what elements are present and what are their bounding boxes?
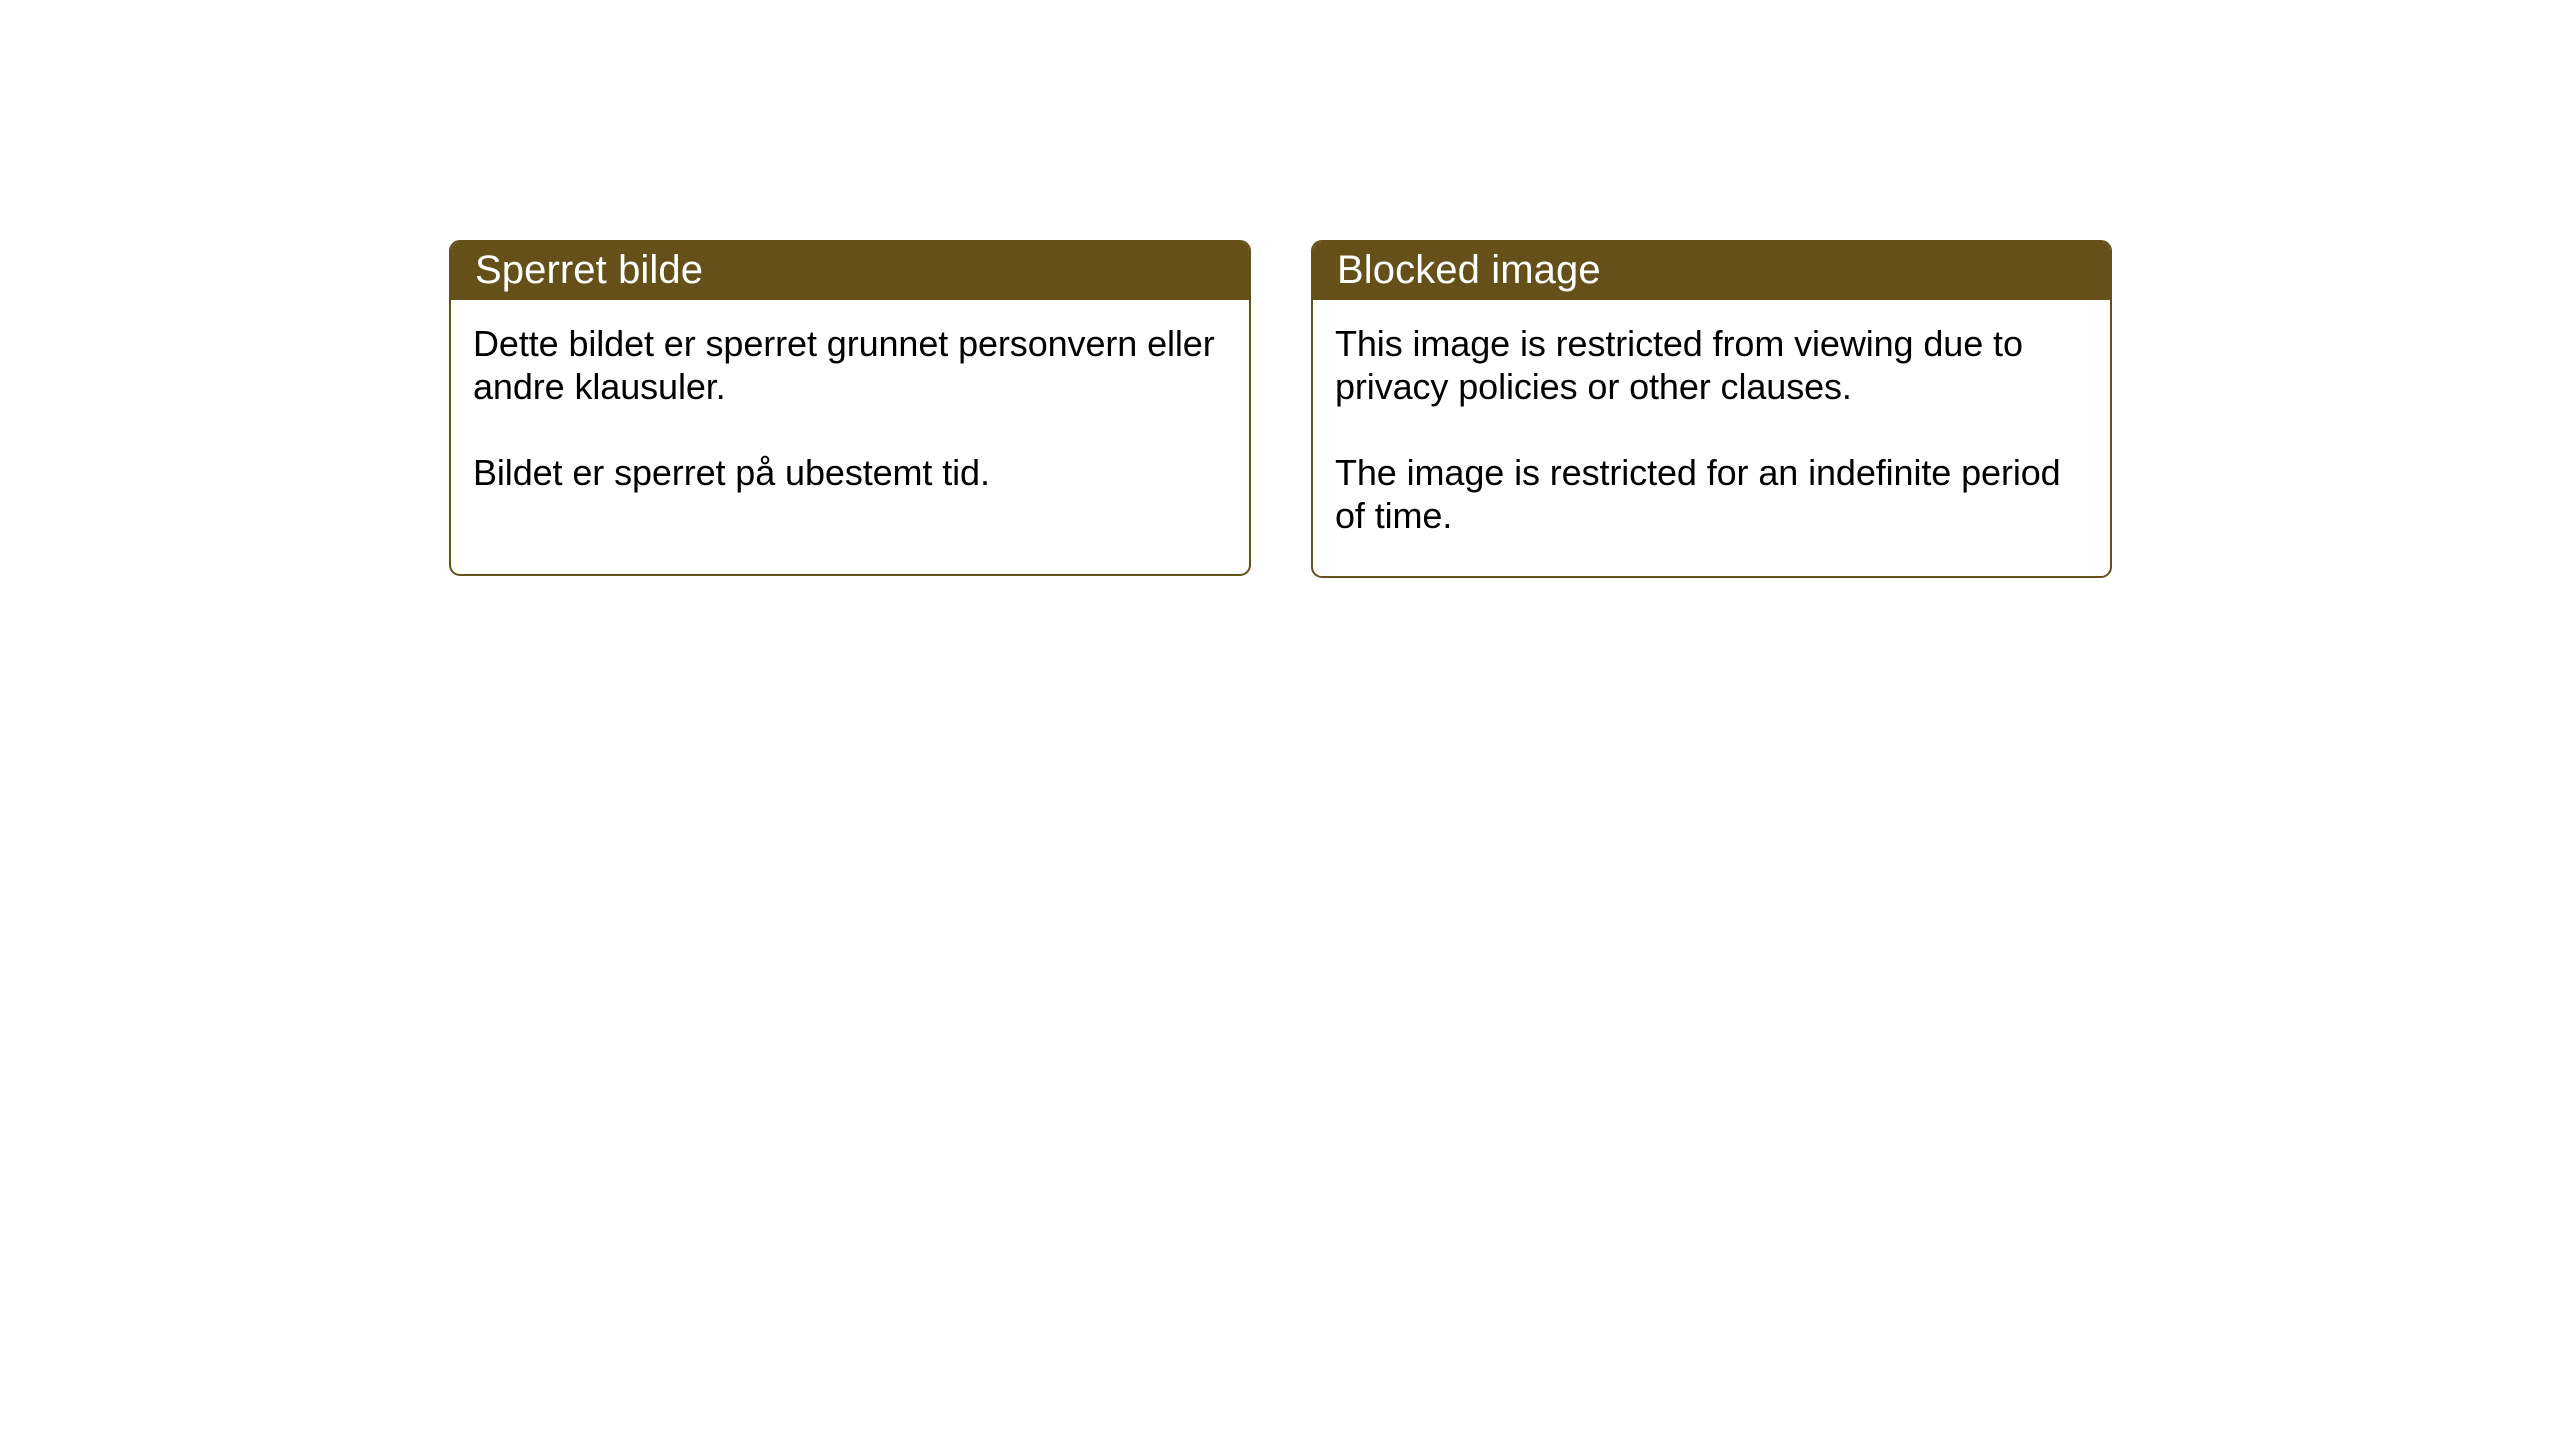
page-canvas: Sperret bilde Dette bildet er sperret gr… bbox=[0, 0, 2560, 1440]
notice-title-norwegian: Sperret bilde bbox=[475, 248, 703, 292]
notice-paragraph-duration-english: The image is restricted for an indefinit… bbox=[1335, 451, 2084, 537]
blocked-image-notice-card-norwegian: Sperret bilde Dette bildet er sperret gr… bbox=[449, 240, 1251, 576]
notice-card-body-english: This image is restricted from viewing du… bbox=[1313, 300, 2110, 537]
notice-paragraph-duration-norwegian: Bildet er sperret på ubestemt tid. bbox=[473, 451, 1223, 494]
notice-card-header-norwegian: Sperret bilde bbox=[449, 240, 1251, 300]
notice-card-header-english: Blocked image bbox=[1311, 240, 2112, 300]
notice-card-body-norwegian: Dette bildet er sperret grunnet personve… bbox=[451, 300, 1249, 494]
notice-title-english: Blocked image bbox=[1337, 248, 1601, 292]
notice-paragraph-reason-norwegian: Dette bildet er sperret grunnet personve… bbox=[473, 322, 1223, 408]
blocked-image-notice-card-english: Blocked image This image is restricted f… bbox=[1311, 240, 2112, 578]
notice-paragraph-reason-english: This image is restricted from viewing du… bbox=[1335, 322, 2084, 408]
